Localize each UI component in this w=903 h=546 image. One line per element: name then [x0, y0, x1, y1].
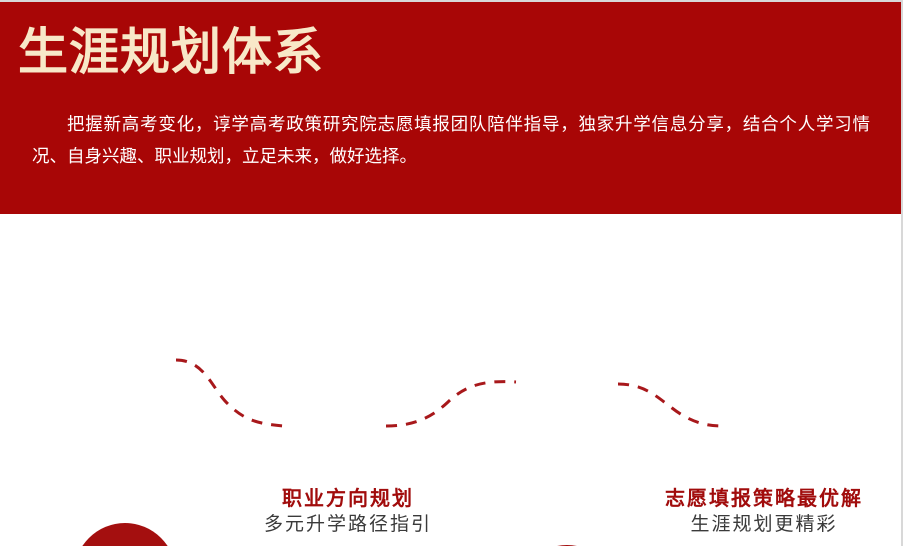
connector-2-3	[386, 382, 516, 426]
connector-1-2	[176, 360, 284, 426]
step-label-2: 职业方向规划 多元升学路径指引	[218, 486, 478, 537]
roadmap-diagram: 1 2 3 4 定制个性化提分方案 规划高考目标 职业方向规划 多元升学路径指引…	[0, 214, 903, 546]
page-title: 生涯规划体系	[18, 24, 324, 80]
step-heading-2: 职业方向规划	[218, 486, 478, 511]
slide-canvas: 生涯规划体系 把握新高考变化，谆学高考政策研究院志愿填报团队陪伴指导，独家升学信…	[0, 0, 903, 546]
step-heading-4: 志愿填报策略最优解	[624, 486, 903, 511]
step-subtext-4: 生涯规划更精彩	[624, 512, 903, 537]
step-subtext-2: 多元升学路径指引	[218, 512, 478, 537]
step-number-1: 1	[103, 542, 146, 546]
connector-3-4	[618, 384, 722, 426]
step-label-4: 志愿填报策略最优解 生涯规划更精彩	[624, 486, 903, 537]
banner-description: 把握新高考变化，谆学高考政策研究院志愿填报团队陪伴指导，独家升学信息分享，结合个…	[32, 110, 870, 174]
header-banner: 生涯规划体系 把握新高考变化，谆学高考政策研究院志愿填报团队陪伴指导，独家升学信…	[0, 2, 903, 214]
